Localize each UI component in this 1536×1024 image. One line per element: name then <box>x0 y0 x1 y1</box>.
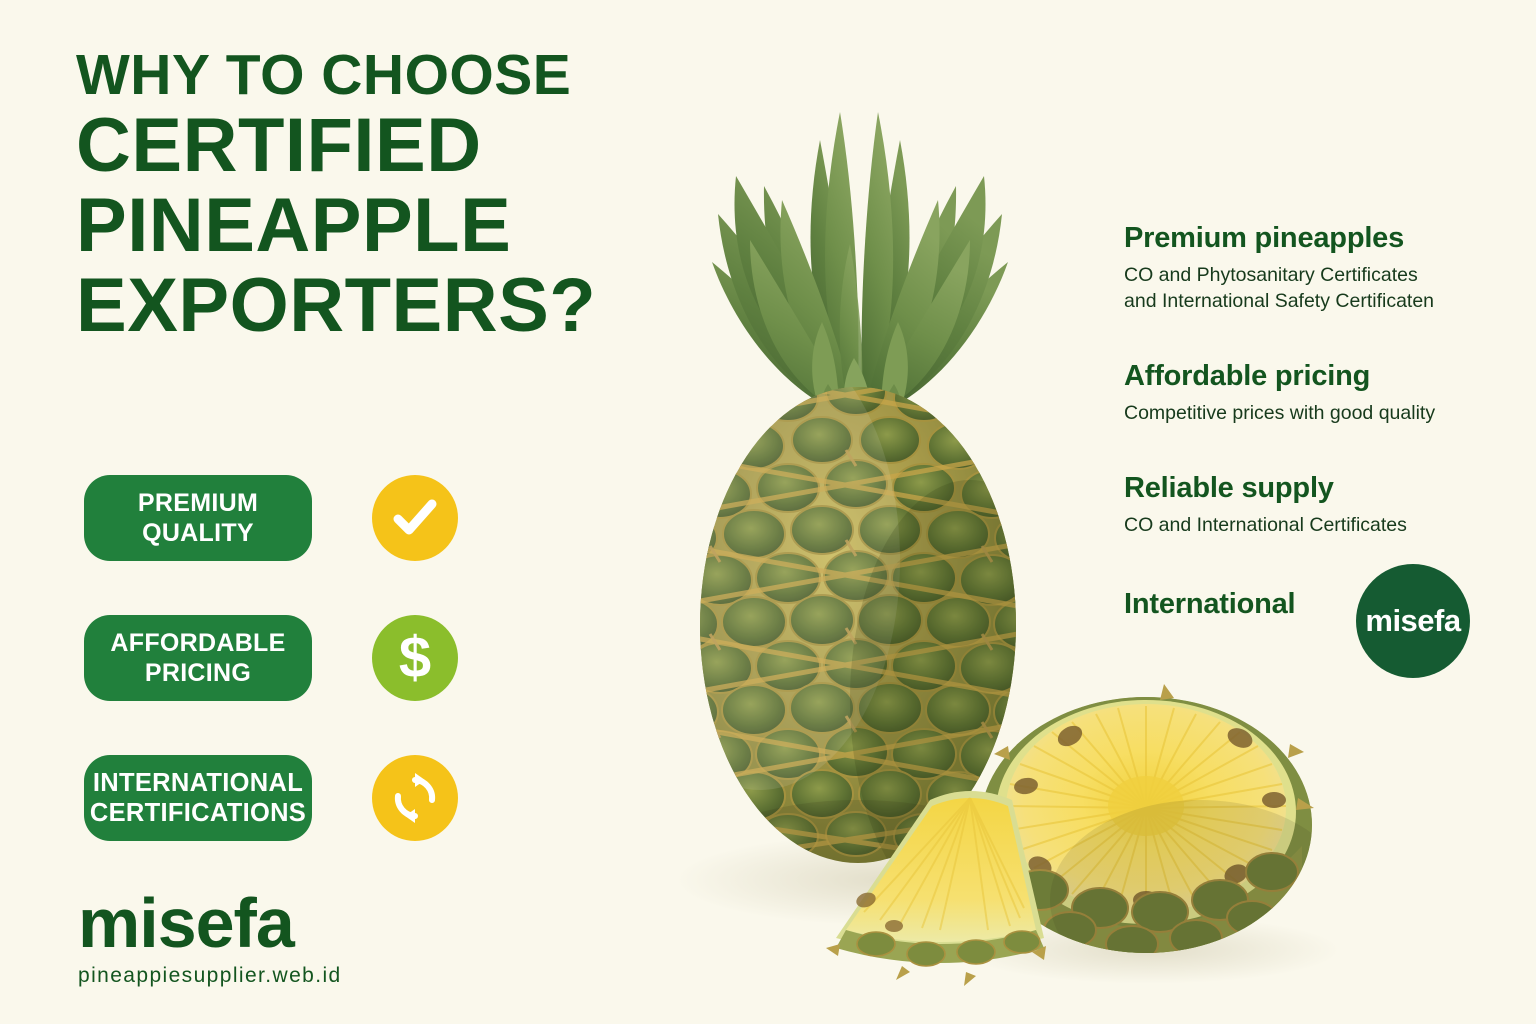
pill-international-certifications[interactable]: INTERNATIONAL CERTIFICATIONS <box>84 755 312 841</box>
brand-website-url: pineappiesupplier.web.id <box>78 964 342 988</box>
headline-line-4: EXPORTERS? <box>76 266 716 346</box>
pill-affordable-pricing-line2: PRICING <box>145 658 251 688</box>
benefit-pill-list: PREMIUM QUALITY AFFORDABLE PRICING $ INT… <box>84 470 458 890</box>
pill-premium-quality-line2: QUALITY <box>142 518 254 548</box>
benefit-row-premium-quality: PREMIUM QUALITY <box>84 470 458 566</box>
feature-international: International misefa <box>1124 588 1494 621</box>
feature-desc-premium-pineapples: CO and Phytosanitary Certificates and In… <box>1124 262 1494 314</box>
feature-desc-affordable-pricing: Competitive prices with good quality <box>1124 400 1494 426</box>
feature-title-reliable-supply: Reliable supply <box>1124 472 1494 505</box>
feature-title-premium-pineapples: Premium pineapples <box>1124 222 1494 255</box>
check-circle-icon <box>372 475 458 561</box>
feature-premium-pineapples: Premium pineapples CO and Phytosanitary … <box>1124 222 1494 314</box>
brand-logo: misefa pineappiesupplier.web.id <box>78 886 342 988</box>
feature-reliable-supply: Reliable supply CO and International Cer… <box>1124 472 1494 538</box>
misefa-badge-label: misefa <box>1365 603 1460 639</box>
misefa-badge: misefa <box>1356 564 1470 678</box>
brand-wordmark: misefa <box>78 886 342 960</box>
dollar-sign-glyph: $ <box>399 629 431 687</box>
page-title: WHY TO CHOOSE CERTIFIED PINEAPPLE EXPORT… <box>76 44 716 346</box>
headline-line-1: WHY TO CHOOSE <box>76 44 716 106</box>
refresh-cycle-circle-icon <box>372 755 458 841</box>
feature-affordable-pricing: Affordable pricing Competitive prices wi… <box>1124 360 1494 426</box>
pill-premium-quality[interactable]: PREMIUM QUALITY <box>84 475 312 561</box>
headline-line-3: PINEAPPLE <box>76 186 716 266</box>
feature-desc-line-2: and International Safety Certificaten <box>1124 290 1434 312</box>
pill-affordable-pricing-line1: AFFORDABLE <box>110 628 285 658</box>
headline-line-2: CERTIFIED <box>76 106 716 186</box>
feature-list: Premium pineapples CO and Phytosanitary … <box>1124 222 1494 655</box>
dollar-circle-icon: $ <box>372 615 458 701</box>
pill-international-certifications-line1: INTERNATIONAL <box>93 768 303 798</box>
benefit-row-international-certifications: INTERNATIONAL CERTIFICATIONS <box>84 750 458 846</box>
pill-premium-quality-line1: PREMIUM <box>138 488 258 518</box>
feature-desc-reliable-supply: CO and International Certificates <box>1124 512 1494 538</box>
feature-title-affordable-pricing: Affordable pricing <box>1124 360 1494 393</box>
pill-affordable-pricing[interactable]: AFFORDABLE PRICING <box>84 615 312 701</box>
pill-international-certifications-line2: CERTIFICATIONS <box>90 798 306 828</box>
feature-desc-line-1: CO and Phytosanitary Certificates <box>1124 264 1418 286</box>
benefit-row-affordable-pricing: AFFORDABLE PRICING $ <box>84 610 458 706</box>
poster-canvas: WHY TO CHOOSE CERTIFIED PINEAPPLE EXPORT… <box>0 0 1536 1024</box>
